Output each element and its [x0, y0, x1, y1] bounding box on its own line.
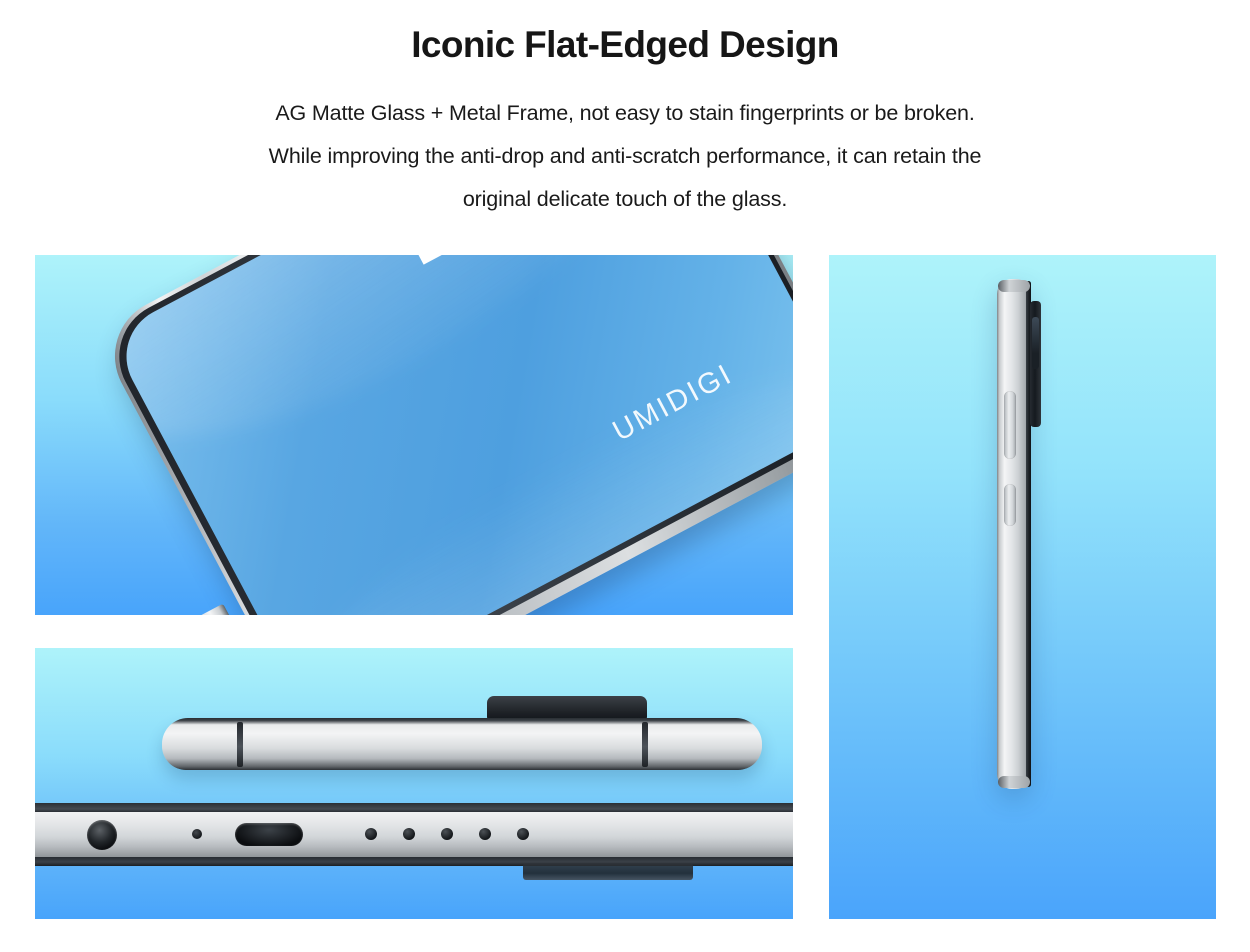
speaker-hole-icon — [441, 828, 453, 840]
page-description: AG Matte Glass + Metal Frame, not easy t… — [0, 92, 1250, 221]
headphone-jack-icon — [87, 820, 117, 850]
camera-lens-icon — [1032, 317, 1039, 369]
microphone-hole-icon — [192, 829, 202, 839]
camera-bump-icon — [487, 696, 647, 720]
phone-bottom-edge-render — [35, 803, 793, 871]
speaker-hole-icon — [479, 828, 491, 840]
phone-top-edge-render — [162, 710, 762, 770]
camera-bump-icon — [523, 863, 693, 880]
antenna-line — [642, 722, 648, 767]
product-image-phone-edges — [35, 648, 793, 919]
speaker-hole-icon — [403, 828, 415, 840]
phone-bottom-cap — [998, 776, 1030, 788]
description-line-3: original delicate touch of the glass. — [0, 178, 1250, 221]
camera-bump-icon — [1030, 301, 1041, 427]
usb-c-port-icon — [235, 823, 303, 846]
antenna-line — [237, 722, 243, 767]
phone-top-cap — [998, 280, 1030, 292]
description-line-2: While improving the anti-drop and anti-s… — [0, 135, 1250, 178]
phone-corner-render: BEYOND UMIDIGI — [95, 255, 793, 615]
product-image-phone-corner-closeup: BEYOND UMIDIGI — [35, 255, 793, 615]
description-line-1: AG Matte Glass + Metal Frame, not easy t… — [0, 92, 1250, 135]
page-title: Iconic Flat-Edged Design — [0, 24, 1250, 67]
phone-side-render — [997, 279, 1035, 789]
power-button — [1004, 484, 1016, 526]
speaker-hole-icon — [517, 828, 529, 840]
phone-top-edge-frame — [162, 718, 762, 770]
phone-display-glass — [109, 255, 793, 615]
speaker-hole-icon — [365, 828, 377, 840]
product-image-phone-side-profile — [829, 255, 1216, 919]
volume-rocker-button — [1004, 391, 1016, 459]
